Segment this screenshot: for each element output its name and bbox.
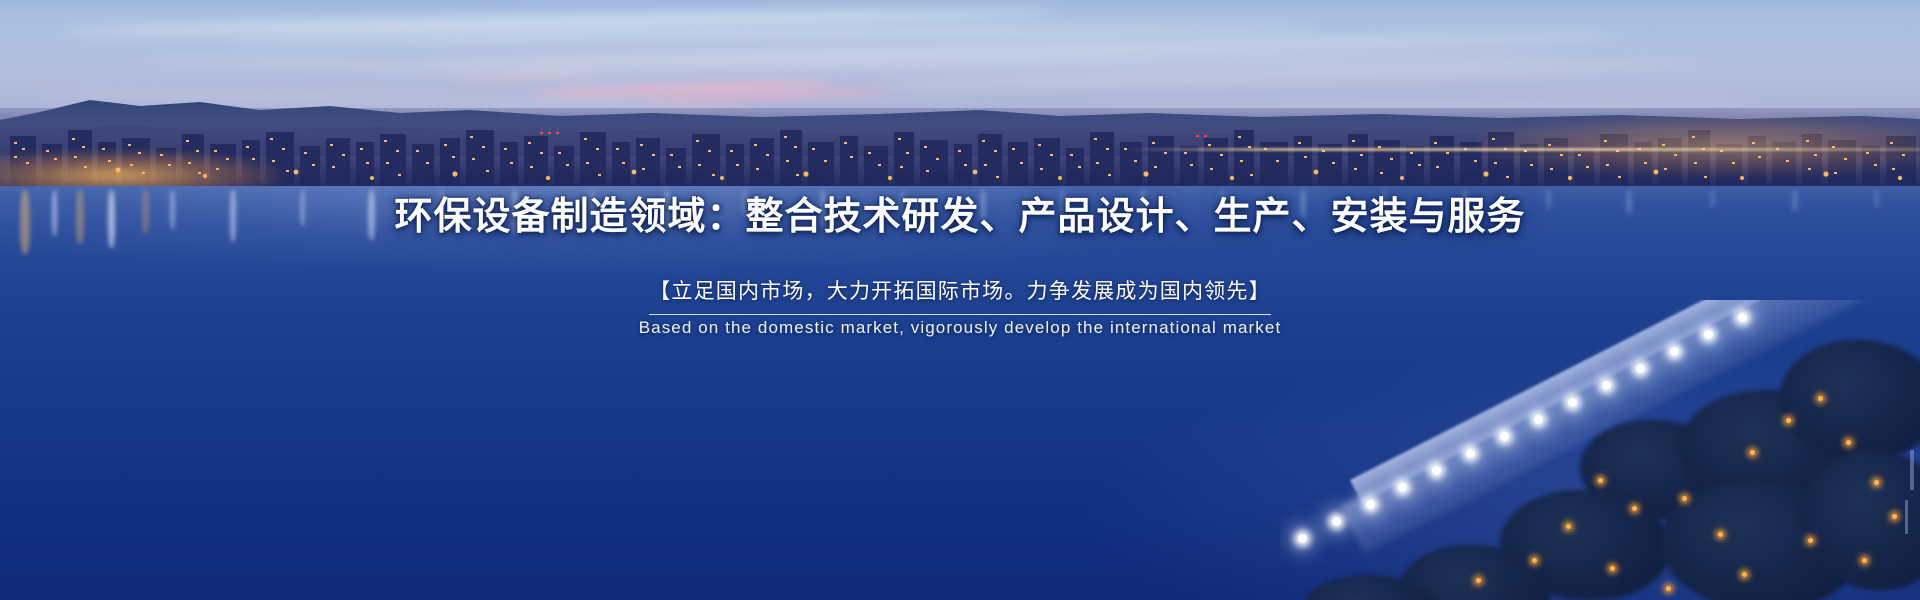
park-light: [1718, 532, 1723, 537]
street-lamp: [1432, 466, 1441, 475]
street-lamp: [1738, 313, 1747, 322]
street-lamp: [1704, 330, 1713, 339]
edge-mark: [1905, 500, 1908, 534]
street-lamp: [1534, 415, 1543, 424]
park-light: [1566, 524, 1571, 529]
park-light: [1874, 480, 1879, 485]
park-light: [1598, 478, 1603, 483]
park-light: [1818, 396, 1823, 401]
street-lamp: [1670, 347, 1679, 356]
park-light: [1892, 514, 1897, 519]
park-light: [1742, 572, 1747, 577]
street-lamp: [1636, 364, 1645, 373]
park-light: [1666, 586, 1671, 591]
lit-waterfront-promenade: [1280, 300, 1920, 600]
park-light: [1532, 558, 1537, 563]
cloud-streak: [60, 6, 1060, 37]
park-light: [1846, 440, 1851, 445]
cloud-streak: [520, 52, 1570, 73]
park-light: [1682, 496, 1687, 501]
hero-banner: 环保设备制造领域：整合技术研发、产品设计、生产、安装与服务 【立足国内市场，大力…: [0, 0, 1920, 600]
park-light: [1808, 538, 1813, 543]
street-lamp: [1500, 432, 1509, 441]
park-light: [1610, 566, 1615, 571]
cloud-streak: [220, 22, 1320, 46]
park-light: [1476, 578, 1481, 583]
street-lamp: [1366, 500, 1375, 509]
distant-bridge: [1120, 148, 1920, 151]
street-lamp: [1332, 517, 1341, 526]
street-lamp: [1298, 534, 1307, 543]
cloud-streak: [420, 30, 1620, 68]
edge-mark: [1910, 450, 1914, 490]
street-lamp: [1466, 449, 1475, 458]
street-lamp: [1568, 398, 1577, 407]
park-light: [1632, 506, 1637, 511]
street-lamp: [1398, 483, 1407, 492]
park-light: [1750, 450, 1755, 455]
street-lamp: [1602, 381, 1611, 390]
water-sheen: [0, 186, 1920, 306]
cloud-streak: [140, 56, 600, 76]
pink-sunset-cloud: [452, 68, 602, 83]
park-light: [1786, 418, 1791, 423]
park-light: [1862, 558, 1867, 563]
far-city-light-glow: [1480, 116, 1920, 176]
